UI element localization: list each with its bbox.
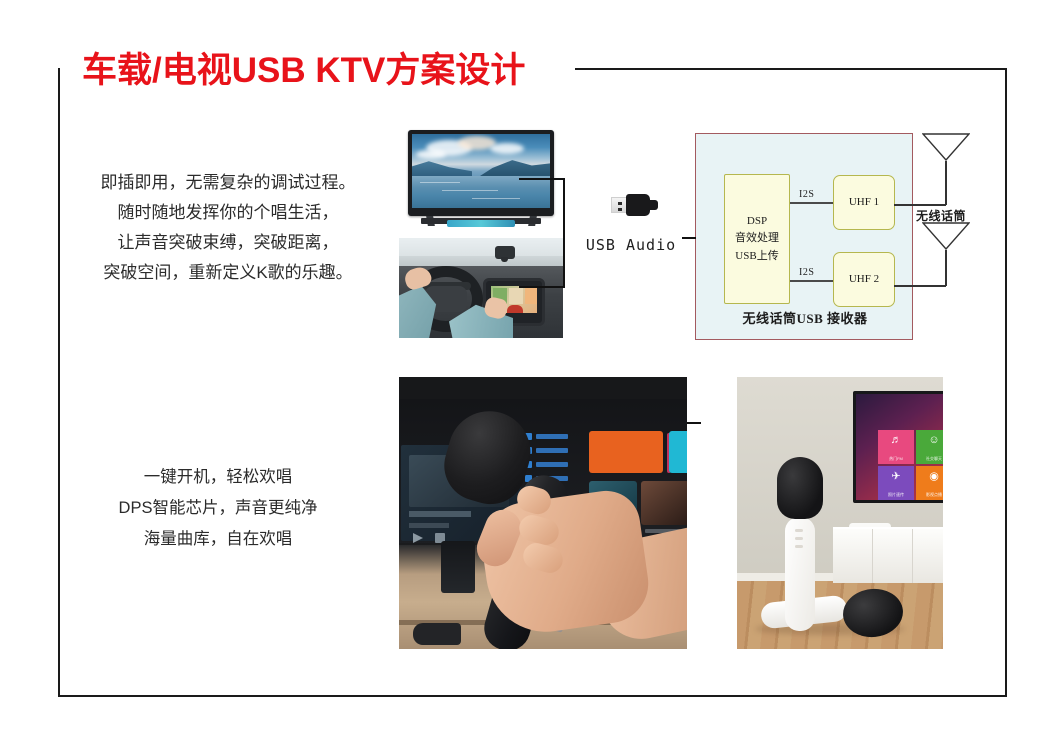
features-copy: 一键开机，轻松欢唱 DPS智能芯片，声音更纯净 海量曲库，自在欢唱 bbox=[58, 462, 378, 555]
i2s-bus-line-2 bbox=[790, 280, 833, 282]
water-glint bbox=[442, 190, 498, 191]
frame-border-bottom bbox=[58, 695, 1007, 697]
antenna-stem bbox=[945, 161, 947, 205]
usb-plug-cable bbox=[649, 200, 658, 210]
usb-plug-contact bbox=[618, 202, 622, 205]
signal-wire-vertical bbox=[563, 178, 565, 288]
tv-app-tile-transfer[interactable]: ✈ 照片速传 bbox=[878, 466, 914, 500]
usb-plug-icon bbox=[611, 194, 657, 216]
microphone-button bbox=[795, 545, 803, 548]
tile-caption: 社交聊天 bbox=[916, 456, 943, 462]
frame-border-top bbox=[575, 68, 1007, 70]
air-vent bbox=[413, 623, 461, 645]
smiley-icon: ☺ bbox=[928, 434, 939, 446]
dsp-title: DSP bbox=[747, 213, 767, 230]
plug-and-play-copy: 即插即用，无需复杂的调试过程。 随时随地发挥你的个唱生活， 让声音突破束缚，突破… bbox=[68, 168, 388, 288]
frame-border-left bbox=[58, 68, 60, 697]
menu-label-bar bbox=[536, 462, 568, 467]
frame-border-right bbox=[1005, 68, 1007, 697]
menu-row bbox=[525, 433, 581, 440]
slide-canvas: 车载/电视USB KTV方案设计 即插即用，无需复杂的调试过程。 随时随地发挥你… bbox=[0, 0, 1061, 749]
page-title: 车载/电视USB KTV方案设计 bbox=[82, 42, 525, 93]
receiver-block-diagram: DSP 音效处理 USB上传 UHF 1 UHF 2 I2S I2S 无线话筒U… bbox=[695, 133, 913, 340]
wireless-mic-label: 无线话筒 bbox=[916, 207, 966, 224]
two-microphones-living-room-photo: ♬ 热门FM ☺ 社交聊天 ✈ 照片速传 ◉ 影视点播 bbox=[737, 377, 943, 649]
usb-plug-body bbox=[626, 194, 650, 216]
menu-row bbox=[525, 447, 581, 454]
diagram-caption: 无线话筒USB 接收器 bbox=[696, 308, 914, 327]
antenna-feed-line bbox=[894, 285, 946, 287]
tv-cabinet bbox=[833, 527, 943, 583]
microphone-button bbox=[795, 537, 803, 540]
water-shape bbox=[412, 176, 550, 208]
usb-plug-contact bbox=[618, 208, 622, 211]
cloud-shape bbox=[416, 150, 446, 159]
diagram-input-line bbox=[682, 237, 696, 239]
menu-label-bar bbox=[536, 448, 568, 453]
display-button bbox=[507, 305, 523, 313]
water-glint bbox=[420, 182, 460, 183]
display-tile bbox=[525, 288, 537, 304]
microphone-button bbox=[795, 529, 803, 532]
handheld-microphone-in-car-photo bbox=[399, 377, 687, 649]
menu-label-bar bbox=[536, 434, 568, 439]
copy-line: 让声音突破束缚，突破距离， bbox=[68, 228, 388, 258]
car-dashboard-photo bbox=[399, 238, 563, 338]
tv-soundbar-glow bbox=[447, 220, 515, 227]
music-note-icon: ♬ bbox=[891, 434, 902, 446]
screen-app-tile bbox=[589, 431, 663, 473]
tv-screen: ♬ 热门FM ☺ 社交聊天 ✈ 照片速传 ◉ 影视点播 bbox=[856, 394, 943, 500]
screen-album-tile bbox=[641, 481, 687, 525]
tile-caption: 影视点播 bbox=[916, 492, 943, 498]
uhf1-block: UHF 1 bbox=[833, 175, 895, 230]
copy-line: 一键开机，轻松欢唱 bbox=[58, 462, 378, 493]
i2s-bus-line-1 bbox=[790, 202, 833, 204]
tv-app-tile-video[interactable]: ◉ 影视点播 bbox=[916, 466, 943, 500]
tv-app-tile-social[interactable]: ☺ 社交聊天 bbox=[916, 430, 943, 464]
play-icon bbox=[413, 533, 423, 543]
usb-audio-label: USB Audio bbox=[566, 236, 696, 254]
cabinet-seam bbox=[912, 529, 913, 583]
dsp-block: DSP 音效处理 USB上传 bbox=[724, 174, 790, 304]
tv-screen bbox=[412, 134, 550, 208]
microphone-foam-head-standing bbox=[777, 457, 823, 519]
i2s-label-1: I2S bbox=[799, 189, 814, 200]
signal-wire-to-car bbox=[519, 286, 564, 288]
usb-audio-connection: USB Audio bbox=[566, 190, 706, 270]
microphone-body-standing bbox=[785, 517, 815, 631]
signal-wire-to-tv bbox=[519, 178, 564, 180]
dsp-line-3: USB上传 bbox=[735, 248, 778, 265]
copy-line: 随时随地发挥你的个唱生活， bbox=[68, 198, 388, 228]
wall-mounted-tv: ♬ 热门FM ☺ 社交聊天 ✈ 照片速传 ◉ 影视点播 bbox=[853, 391, 943, 503]
mountain-shape bbox=[412, 160, 472, 176]
copy-line: 即插即用，无需复杂的调试过程。 bbox=[68, 168, 388, 198]
antenna-icon bbox=[922, 222, 970, 250]
dsp-line-2: 音效处理 bbox=[735, 230, 779, 247]
water-glint bbox=[472, 198, 520, 199]
paper-plane-icon: ✈ bbox=[891, 470, 900, 483]
tv-app-tile-music[interactable]: ♬ 热门FM bbox=[878, 430, 914, 464]
tv-bezel bbox=[408, 130, 554, 216]
cabinet-seam bbox=[872, 529, 873, 583]
uhf2-label: UHF 2 bbox=[849, 271, 879, 288]
eye-icon: ◉ bbox=[929, 470, 939, 483]
uhf1-label: UHF 1 bbox=[849, 194, 879, 211]
antenna-feed-line bbox=[894, 204, 946, 206]
screen-app-tile bbox=[669, 431, 687, 473]
usb-plug-metal bbox=[611, 197, 627, 213]
copy-line: DPS智能芯片，声音更纯净 bbox=[58, 493, 378, 524]
i2s-label-2: I2S bbox=[799, 267, 814, 278]
uhf2-block: UHF 2 bbox=[833, 252, 895, 307]
tv-app-grid: ♬ 热门FM ☺ 社交聊天 ✈ 照片速传 ◉ 影视点播 bbox=[878, 430, 943, 500]
copy-line: 突破空间，重新定义K歌的乐趣。 bbox=[68, 258, 388, 288]
antenna-icon bbox=[922, 133, 970, 161]
screen-text-line bbox=[409, 523, 449, 528]
screen-text-line bbox=[409, 511, 471, 517]
menu-row bbox=[525, 461, 581, 468]
copy-line: 海量曲库，自在欢唱 bbox=[58, 524, 378, 555]
display-tile bbox=[509, 288, 523, 304]
tile-caption: 热门FM bbox=[878, 456, 914, 462]
antenna-stem bbox=[945, 250, 947, 286]
cloud-shape bbox=[490, 143, 524, 154]
screen-mount bbox=[441, 541, 475, 593]
mountain-shape bbox=[480, 158, 550, 176]
tile-caption: 照片速传 bbox=[878, 492, 914, 498]
rearview-mirror bbox=[495, 246, 515, 259]
